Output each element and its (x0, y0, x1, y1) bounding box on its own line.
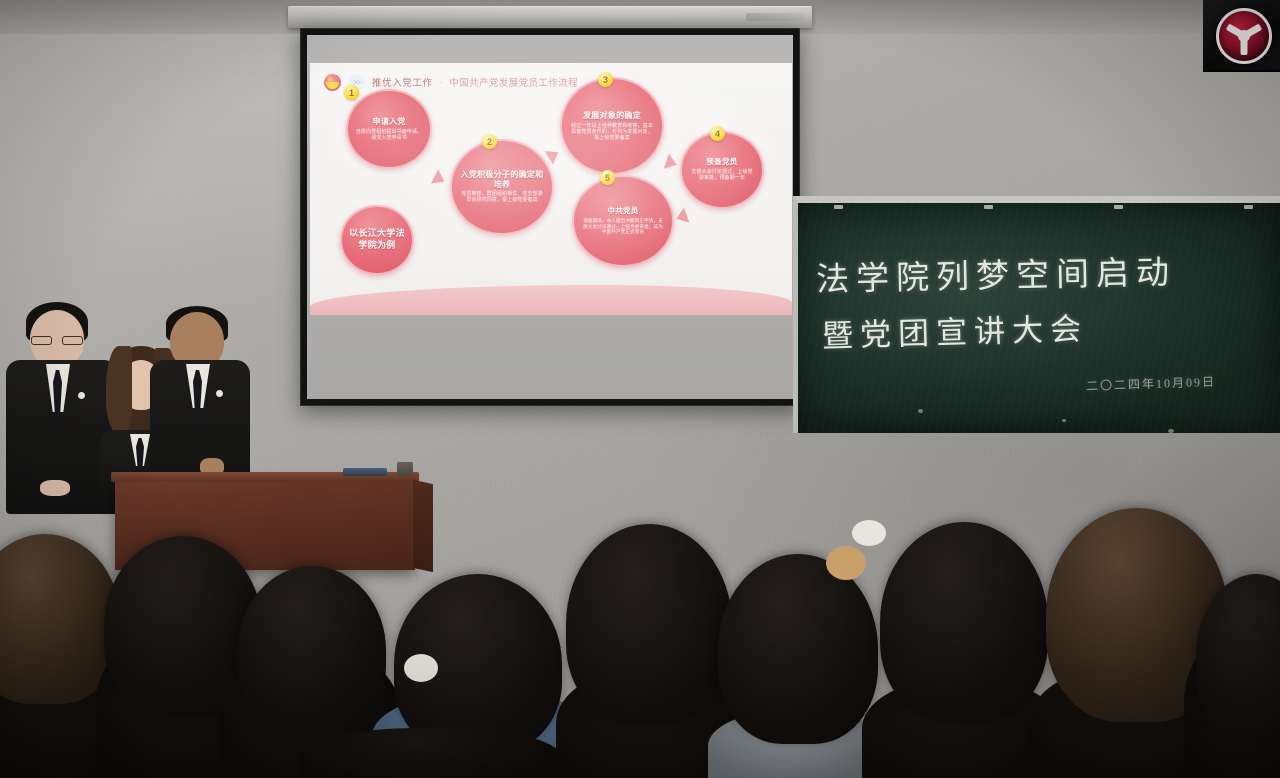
laptop-on-podium (343, 468, 387, 476)
flow-arrow-icon (664, 154, 679, 173)
projection-screen-frame: >> 推优入党工作 · 中国共产党发展党员工作流程 1 申请入党 自愿向党组织提… (300, 28, 800, 406)
node-detail: 预备期满，本人提出书面转正申请，支部大会讨论通过，上级党委审批，成为中国共产党正… (581, 218, 665, 235)
node-title: 预备党员 (706, 158, 737, 167)
node-badge: 4 (710, 126, 725, 141)
flow-node-example: 以长江大学法学院为例 (340, 205, 414, 275)
cup-on-podium (397, 462, 413, 476)
flow-node-4: 4 预备党员 支部大会讨论通过，上级党委审批，预备期一年 (680, 131, 764, 209)
ceiling-fixture (1203, 0, 1280, 72)
node-title: 入党积极分子的确定和培养 (459, 170, 545, 189)
node-detail: 支部大会讨论通过，上级党委审批，预备期一年 (689, 169, 755, 181)
node-title: 发展对象的确定 (583, 111, 641, 120)
fan-hub-icon (1238, 30, 1250, 42)
flow-arrow-icon (545, 145, 563, 164)
flow-node-1: 1 申请入党 自愿向党组织提出书面申请，递交入党申请书 (346, 89, 432, 169)
node-detail: 经过一年以上培养教育和考察，基本具备党员条件的，可列为发展对象，报上级党委备案 (569, 123, 655, 141)
red-dome-icon (1216, 8, 1272, 64)
audience (0, 478, 1280, 778)
node-badge: 3 (598, 72, 613, 87)
blackboard: 法学院列梦空间启动 暨党团宣讲大会 二〇二四年10月09日 (793, 196, 1280, 433)
node-title: 申请入党 (372, 117, 405, 126)
node-badge: 1 (344, 85, 359, 100)
screen-roller-bar (288, 6, 812, 28)
slide-header-subtitle: 中国共产党发展党员工作流程 (449, 75, 578, 89)
flow-node-5: 5 中共党员 预备期满，本人提出书面转正申请，支部大会讨论通过，上级党委审批，成… (572, 175, 674, 267)
lapel-pin (78, 392, 85, 399)
presentation-slide: >> 推优入党工作 · 中国共产党发展党员工作流程 1 申请入党 自愿向党组织提… (310, 63, 792, 315)
node-detail: 党员推荐、群团组织推优、党支部委员会研究同意，报上级党委备案 (459, 191, 545, 203)
glasses-icon (30, 336, 84, 345)
blackboard-line-2: 暨党团宣讲大会 (821, 303, 1088, 355)
slide-header-title: 推优入党工作 (372, 75, 433, 89)
flow-arrow-icon (674, 208, 690, 227)
slide-wave-decoration (310, 273, 792, 315)
flow-node-2: 2 入党积极分子的确定和培养 党员推荐、群团组织推优、党支部委员会研究同意，报上… (450, 139, 554, 235)
node-detail: 自愿向党组织提出书面申请，递交入党申请书 (355, 129, 423, 141)
photo-scene: >> 推优入党工作 · 中国共产党发展党员工作流程 1 申请入党 自愿向党组织提… (0, 0, 1280, 778)
blackboard-date: 二〇二四年10月09日 (1086, 373, 1217, 395)
node-title: 以长江大学法学院为例 (349, 228, 405, 251)
party-emblem-icon (324, 74, 341, 91)
roller-brand-label (746, 13, 804, 21)
node-badge: 5 (600, 170, 615, 185)
node-badge: 2 (482, 134, 497, 149)
projection-screen-surface: >> 推优入党工作 · 中国共产党发展党员工作流程 1 申请入党 自愿向党组织提… (307, 35, 793, 399)
hair-front-left (106, 346, 132, 432)
flow-node-3: 3 发展对象的确定 经过一年以上培养教育和考察，基本具备党员条件的，可列为发展对… (560, 77, 664, 175)
slide-header-separator: · (440, 78, 443, 87)
node-title: 中共党员 (607, 207, 638, 216)
lapel-pin (216, 390, 223, 397)
blackboard-line-1: 法学院列梦空间启动 (816, 245, 1177, 301)
flow-arrow-icon (431, 169, 448, 188)
